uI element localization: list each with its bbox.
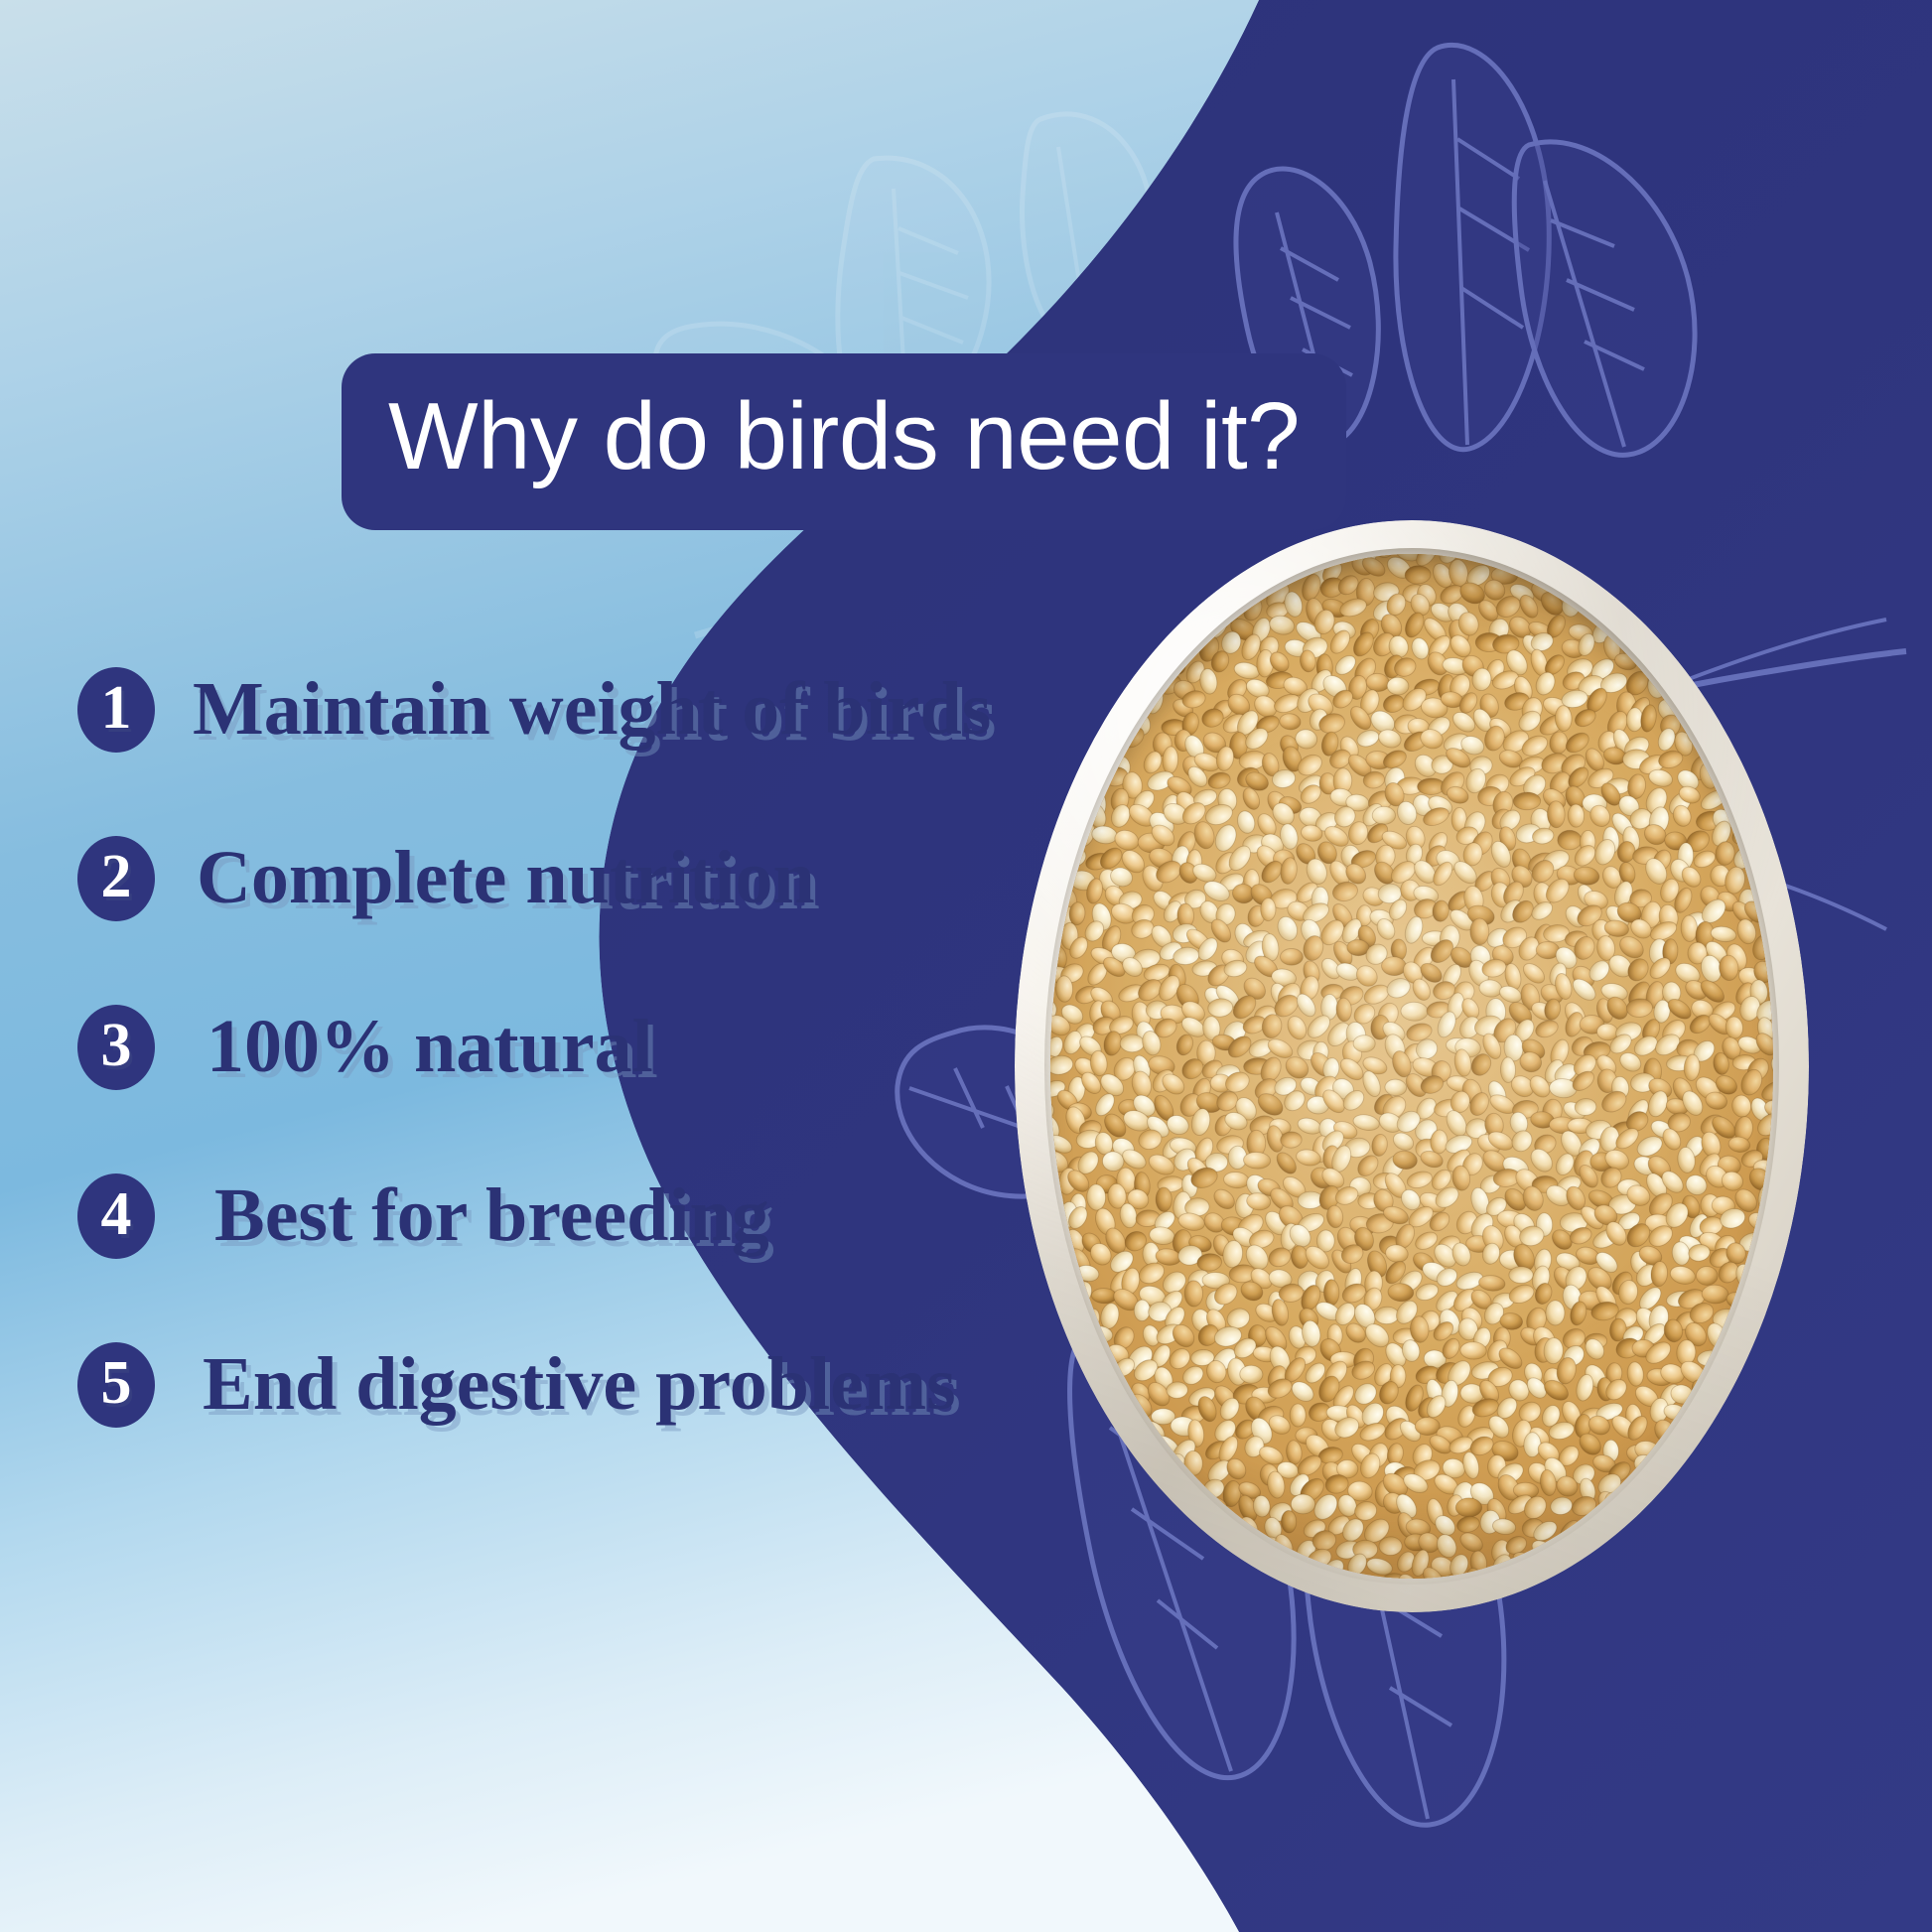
badge-number: 3 [101, 1015, 132, 1076]
millet-seeds-texture [1050, 554, 1773, 1579]
benefit-label: Maintain weight of birds [163, 670, 991, 750]
title-banner: Why do birds need it? [342, 353, 1346, 530]
benefit-label: End digestive problems [163, 1345, 956, 1425]
poster-canvas: Why do birds need it? [0, 0, 1932, 1932]
benefit-label: Complete nutrition [163, 839, 815, 918]
list-item: 5 End digestive problems [77, 1301, 1150, 1469]
badge-number: 2 [101, 846, 132, 907]
bowl-interior-seeds [1050, 554, 1773, 1579]
list-item: 1 Maintain weight of birds [77, 625, 1150, 794]
number-badge: 5 [77, 1342, 155, 1428]
benefits-list: 1 Maintain weight of birds 2 Complete nu… [77, 625, 1150, 1469]
badge-number: 4 [101, 1183, 132, 1245]
number-badge: 2 [77, 836, 155, 921]
benefit-label: 100% natural [163, 1008, 653, 1087]
number-badge: 3 [77, 1005, 155, 1090]
number-badge: 1 [77, 667, 155, 753]
badge-number: 1 [101, 677, 132, 739]
list-item: 4 Best for breeding [77, 1132, 1150, 1301]
page-title: Why do birds need it? [388, 389, 1300, 484]
benefit-label: Best for breeding [163, 1176, 769, 1256]
number-badge: 4 [77, 1173, 155, 1259]
list-item: 2 Complete nutrition [77, 794, 1150, 963]
list-item: 3 100% natural [77, 963, 1150, 1132]
badge-number: 5 [101, 1352, 132, 1414]
